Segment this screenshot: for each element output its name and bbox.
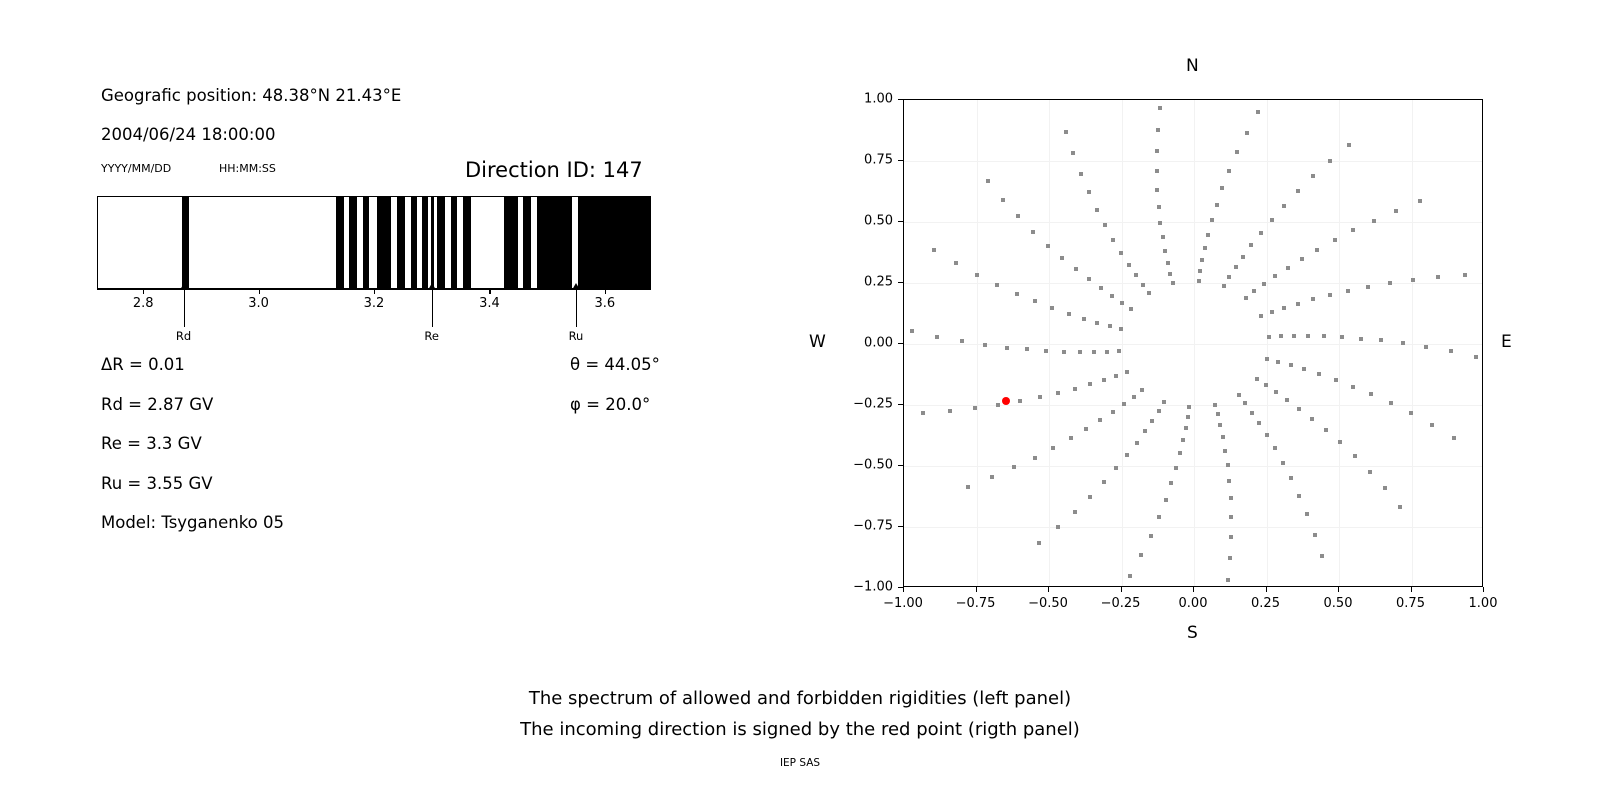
scatter-point (1143, 429, 1147, 433)
gridline-vertical (1412, 100, 1413, 586)
parameter-text: θ = 44.05° (570, 355, 660, 374)
scatter-point (1227, 275, 1231, 279)
gridline-horizontal (904, 222, 1482, 223)
scatter-point (1221, 435, 1225, 439)
scatter-point (996, 403, 1000, 407)
scatter-point (1286, 266, 1290, 270)
gridline-horizontal (904, 466, 1482, 467)
scatter-point (1198, 269, 1202, 273)
scatter-point (1411, 278, 1415, 282)
y-axis-tick-label: 1.00 (841, 92, 893, 107)
x-axis-tick-label: −0.50 (1028, 596, 1068, 611)
rigidity-marker-label: Re (424, 329, 439, 343)
scatter-point (1210, 218, 1214, 222)
scatter-point (966, 485, 970, 489)
scatter-point (1098, 418, 1102, 422)
scatter-point (1033, 299, 1037, 303)
x-axis-tick (1266, 587, 1267, 592)
scatter-point (1117, 349, 1121, 353)
scatter-point (1168, 272, 1172, 276)
scatter-point (1229, 515, 1233, 519)
scatter-point (1289, 363, 1293, 367)
forbidden-band (431, 197, 434, 288)
scatter-point (975, 273, 979, 277)
x-axis-tick (1193, 587, 1194, 592)
scatter-point (1237, 393, 1241, 397)
scatter-point (1111, 410, 1115, 414)
parameter-text: φ = 20.0° (570, 395, 650, 414)
y-axis-tick-label: −0.25 (841, 397, 893, 412)
scatter-point (1105, 350, 1109, 354)
scatter-point (1401, 341, 1405, 345)
scatter-point (1265, 357, 1269, 361)
scatter-point (990, 475, 994, 479)
scatter-point (1197, 279, 1201, 283)
scatter-point (1424, 345, 1428, 349)
scatter-point (954, 261, 958, 265)
scatter-point (1046, 244, 1050, 248)
scatter-point (1147, 291, 1151, 295)
scatter-point (1184, 426, 1188, 430)
scatter-point (1162, 400, 1166, 404)
scatter-point (1087, 277, 1091, 281)
scatter-point (1155, 188, 1159, 192)
gridline-vertical (1194, 100, 1195, 586)
scatter-point (1282, 306, 1286, 310)
rigidity-tick-label: 3.6 (594, 296, 615, 311)
x-axis-tick (1121, 587, 1122, 592)
scatter-point (1229, 535, 1233, 539)
scatter-point (1430, 423, 1434, 427)
scatter-point (1060, 256, 1064, 260)
scatter-point (1110, 294, 1114, 298)
parameter-text: ΔR = 0.01 (101, 355, 185, 374)
scatter-point (1129, 307, 1133, 311)
scatter-point (1333, 238, 1337, 242)
parameter-text: Ru = 3.55 GV (101, 474, 213, 493)
scatter-point (1216, 412, 1220, 416)
scatter-point (1073, 387, 1077, 391)
scatter-point (1186, 415, 1190, 419)
gridline-horizontal (904, 283, 1482, 284)
forbidden-band (463, 197, 471, 288)
scatter-point (1139, 553, 1143, 557)
scatter-point (1092, 350, 1096, 354)
scatter-point (1256, 110, 1260, 114)
rigidity-tick (489, 289, 490, 294)
scatter-point (1366, 285, 1370, 289)
gridline-vertical (1267, 100, 1268, 586)
gridline-vertical (1049, 100, 1050, 586)
scatter-point (1394, 209, 1398, 213)
scatter-point (1102, 378, 1106, 382)
scatter-point (1099, 286, 1103, 290)
scatter-point (1418, 199, 1422, 203)
scatter-point (1249, 243, 1253, 247)
rigidity-marker-label: Rd (176, 329, 191, 343)
y-axis-tick-label: 0.50 (841, 214, 893, 229)
x-axis-tick-label: 0.00 (1179, 596, 1208, 611)
scatter-point (1005, 346, 1009, 350)
scatter-point (1158, 221, 1162, 225)
y-axis-tick-label: 0.75 (841, 153, 893, 168)
scatter-point (1215, 203, 1219, 207)
scatter-point (1114, 466, 1118, 470)
forbidden-band (523, 197, 531, 288)
scatter-point (1369, 392, 1373, 396)
scatter-point (1296, 189, 1300, 193)
scatter-point (1120, 301, 1124, 305)
scatter-point (932, 248, 936, 252)
x-axis-tick (1048, 587, 1049, 592)
scatter-point (1334, 378, 1338, 382)
scatter-point (1306, 334, 1310, 338)
scatter-point (1095, 208, 1099, 212)
scatter-point (1372, 219, 1376, 223)
scatter-point (1149, 534, 1153, 538)
scatter-point (1234, 265, 1238, 269)
scatter-point (1095, 321, 1099, 325)
scatter-point (1297, 494, 1301, 498)
scatter-point (1078, 350, 1082, 354)
x-axis-tick-label: 0.75 (1396, 596, 1425, 611)
scatter-point (1250, 411, 1254, 415)
asymptotic-direction-plot (903, 99, 1483, 587)
x-axis-tick (1483, 587, 1484, 592)
scatter-point (1206, 233, 1210, 237)
scatter-point (1223, 449, 1227, 453)
scatter-point (1322, 334, 1326, 338)
caption-line-2: The incoming direction is signed by the … (0, 719, 1600, 740)
gridline-horizontal (904, 161, 1482, 162)
forbidden-band (182, 197, 189, 288)
scatter-point (1155, 149, 1159, 153)
scatter-point (1241, 255, 1245, 259)
compass-west-label: W (809, 332, 826, 352)
scatter-point (1135, 441, 1139, 445)
rigidity-marker-label: Ru (569, 329, 584, 343)
scatter-point (948, 409, 952, 413)
scatter-point (1305, 512, 1309, 516)
scatter-point (1157, 515, 1161, 519)
scatter-point (1125, 453, 1129, 457)
compass-north-label: N (1186, 56, 1199, 76)
forbidden-band (363, 197, 369, 288)
scatter-point (1084, 427, 1088, 431)
scatter-point (1302, 367, 1306, 371)
y-axis-tick-label: −0.75 (841, 519, 893, 534)
scatter-point (1315, 248, 1319, 252)
scatter-point (1311, 174, 1315, 178)
y-axis-tick (898, 526, 903, 527)
scatter-point (1108, 324, 1112, 328)
scatter-point (1082, 317, 1086, 321)
scatter-point (910, 329, 914, 333)
y-axis-tick (898, 404, 903, 405)
scatter-point (960, 339, 964, 343)
forbidden-band (349, 197, 357, 288)
scatter-point (935, 335, 939, 339)
scatter-point (1067, 312, 1071, 316)
scatter-point (1031, 230, 1035, 234)
scatter-point (1273, 274, 1277, 278)
scatter-point (1229, 496, 1233, 500)
scatter-point (1285, 398, 1289, 402)
scatter-point (1270, 218, 1274, 222)
scatter-point (1200, 258, 1204, 262)
scatter-point (1015, 292, 1019, 296)
scatter-point (1244, 296, 1248, 300)
scatter-point (1252, 289, 1256, 293)
scatter-point (1087, 190, 1091, 194)
y-axis-tick-label: −0.50 (841, 458, 893, 473)
scatter-point (1220, 186, 1224, 190)
scatter-point (1310, 417, 1314, 421)
scatter-point (1351, 228, 1355, 232)
forbidden-band (504, 197, 518, 288)
scatter-point (1359, 337, 1363, 341)
y-axis-tick (898, 282, 903, 283)
footer-label: IEP SAS (0, 757, 1600, 769)
scatter-point (1088, 495, 1092, 499)
geographic-position-label: Geografic position: 48.38°N 21.43°E (101, 86, 401, 105)
red-direction-point (1002, 397, 1010, 405)
scatter-point (1340, 335, 1344, 339)
date-format-hint: YYYY/MM/DD (101, 162, 171, 175)
scatter-point (1313, 533, 1317, 537)
scatter-point (1257, 421, 1261, 425)
rigidity-tick-label: 2.8 (133, 296, 154, 311)
scatter-point (1016, 214, 1020, 218)
scatter-point (995, 283, 999, 287)
scatter-point (1227, 479, 1231, 483)
gridline-vertical (977, 100, 978, 586)
forbidden-band (437, 197, 445, 288)
scatter-point (1243, 401, 1247, 405)
scatter-point (1218, 423, 1222, 427)
scatter-point (1338, 440, 1342, 444)
scatter-point (1073, 510, 1077, 514)
scatter-point (1119, 327, 1123, 331)
scatter-point (1297, 407, 1301, 411)
scatter-point (1001, 198, 1005, 202)
scatter-point (1226, 578, 1230, 582)
scatter-point (1140, 388, 1144, 392)
scatter-point (1018, 399, 1022, 403)
forbidden-band (411, 197, 417, 288)
scatter-point (921, 411, 925, 415)
scatter-point (1259, 314, 1263, 318)
scatter-point (1383, 486, 1387, 490)
rigidity-marker-arrow (184, 289, 185, 327)
scatter-point (1169, 481, 1173, 485)
rigidity-axis: 2.83.03.23.43.6 RdReRu (97, 289, 651, 290)
scatter-point (1281, 461, 1285, 465)
scatter-point (1300, 257, 1304, 261)
gridline-horizontal (904, 527, 1482, 528)
forbidden-band (377, 197, 391, 288)
rigidity-spectrum-plot (97, 196, 651, 289)
scatter-point (1119, 251, 1123, 255)
scatter-point (1103, 223, 1107, 227)
parameter-text: Re = 3.3 GV (101, 434, 202, 453)
rigidity-marker-arrowhead (572, 283, 580, 290)
scatter-point (1273, 446, 1277, 450)
scatter-point (1226, 463, 1230, 467)
scatter-point (1111, 238, 1115, 242)
scatter-point (1267, 335, 1271, 339)
scatter-point (1134, 273, 1138, 277)
scatter-point (1102, 480, 1106, 484)
scatter-point (1157, 205, 1161, 209)
scatter-point (1088, 382, 1092, 386)
scatter-point (1353, 454, 1357, 458)
scatter-point (1071, 151, 1075, 155)
compass-east-label: E (1501, 332, 1512, 352)
scatter-point (1227, 169, 1231, 173)
gridline-horizontal (904, 405, 1482, 406)
caption-line-1: The spectrum of allowed and forbidden ri… (0, 688, 1600, 709)
scatter-point (1292, 334, 1296, 338)
y-axis-tick (898, 343, 903, 344)
rigidity-tick (259, 289, 260, 294)
gridline-vertical (1339, 100, 1340, 586)
scatter-point (1282, 204, 1286, 208)
scatter-point (1062, 350, 1066, 354)
x-axis-tick (903, 587, 904, 592)
scatter-point (1187, 405, 1191, 409)
scatter-point (1213, 403, 1217, 407)
x-axis-tick (1411, 587, 1412, 592)
scatter-point (1228, 556, 1232, 560)
forbidden-band (578, 197, 651, 288)
scatter-point (1174, 466, 1178, 470)
x-axis-tick-label: 0.25 (1251, 596, 1280, 611)
scatter-point (1262, 282, 1266, 286)
scatter-point (1347, 143, 1351, 147)
x-axis-tick (976, 587, 977, 592)
datetime-label: 2004/06/24 18:00:00 (101, 125, 275, 144)
compass-south-label: S (1187, 623, 1198, 643)
scatter-point (1328, 293, 1332, 297)
scatter-point (1203, 246, 1207, 250)
scatter-point (1074, 267, 1078, 271)
scatter-point (1463, 273, 1467, 277)
scatter-point (1064, 130, 1068, 134)
scatter-point (1289, 476, 1293, 480)
scatter-point (1164, 498, 1168, 502)
scatter-point (1012, 465, 1016, 469)
scatter-point (1259, 231, 1263, 235)
scatter-point (1324, 428, 1328, 432)
scatter-point (1274, 390, 1278, 394)
scatter-point (1389, 401, 1393, 405)
parameter-text: Model: Tsyganenko 05 (101, 513, 284, 532)
scatter-point (1155, 169, 1159, 173)
scatter-point (1157, 409, 1161, 413)
forbidden-band (537, 197, 572, 288)
scatter-point (1436, 275, 1440, 279)
scatter-point (1222, 284, 1226, 288)
rigidity-marker-arrow (576, 289, 577, 327)
scatter-point (1069, 436, 1073, 440)
scatter-point (1171, 281, 1175, 285)
rigidity-tick (605, 289, 606, 294)
scatter-point (1351, 385, 1355, 389)
scatter-point (1255, 377, 1259, 381)
y-axis-tick (898, 465, 903, 466)
scatter-point (1051, 446, 1055, 450)
scatter-point (1166, 261, 1170, 265)
scatter-point (1056, 391, 1060, 395)
scatter-point (1125, 370, 1129, 374)
scatter-point (1128, 574, 1132, 578)
scatter-point (1328, 159, 1332, 163)
scatter-point (1276, 360, 1280, 364)
scatter-point (1311, 297, 1315, 301)
scatter-point (1264, 383, 1268, 387)
scatter-point (1079, 172, 1083, 176)
rigidity-marker-arrowhead (180, 283, 188, 290)
scatter-point (1163, 249, 1167, 253)
y-axis-tick-label: 0.25 (841, 275, 893, 290)
y-axis-tick (898, 160, 903, 161)
scatter-point (1181, 438, 1185, 442)
scatter-point (1449, 349, 1453, 353)
rigidity-tick-label: 3.4 (479, 296, 500, 311)
y-axis-tick-label: 0.00 (841, 336, 893, 351)
scatter-point (986, 179, 990, 183)
scatter-point (983, 343, 987, 347)
scatter-point (1050, 306, 1054, 310)
scatter-point (1388, 281, 1392, 285)
scatter-point (1270, 310, 1274, 314)
rigidity-tick (143, 289, 144, 294)
scatter-point (1409, 411, 1413, 415)
scatter-point (1127, 263, 1131, 267)
rigidity-tick (374, 289, 375, 294)
rigidity-marker-arrowhead (428, 283, 436, 290)
scatter-point (1265, 433, 1269, 437)
scatter-point (1037, 541, 1041, 545)
scatter-point (1161, 235, 1165, 239)
scatter-point (1178, 451, 1182, 455)
scatter-point (1398, 505, 1402, 509)
plot-area (904, 100, 1482, 586)
scatter-point (1056, 525, 1060, 529)
parameter-text: Rd = 2.87 GV (101, 395, 213, 414)
scatter-point (1296, 302, 1300, 306)
x-axis-tick-label: 1.00 (1469, 596, 1498, 611)
scatter-point (973, 406, 977, 410)
rigidity-marker-arrow (432, 289, 433, 327)
scatter-point (1132, 395, 1136, 399)
forbidden-band (397, 197, 405, 288)
x-axis-tick (1338, 587, 1339, 592)
scatter-point (1038, 395, 1042, 399)
y-axis-tick (898, 221, 903, 222)
scatter-point (1033, 456, 1037, 460)
y-axis-tick-label: −1.00 (841, 580, 893, 595)
x-axis-tick-label: −0.75 (956, 596, 996, 611)
gridline-vertical (1122, 100, 1123, 586)
scatter-point (1452, 436, 1456, 440)
forbidden-band (336, 197, 344, 288)
scatter-point (1368, 470, 1372, 474)
scatter-point (1379, 338, 1383, 342)
scatter-point (1235, 150, 1239, 154)
scatter-point (1025, 347, 1029, 351)
